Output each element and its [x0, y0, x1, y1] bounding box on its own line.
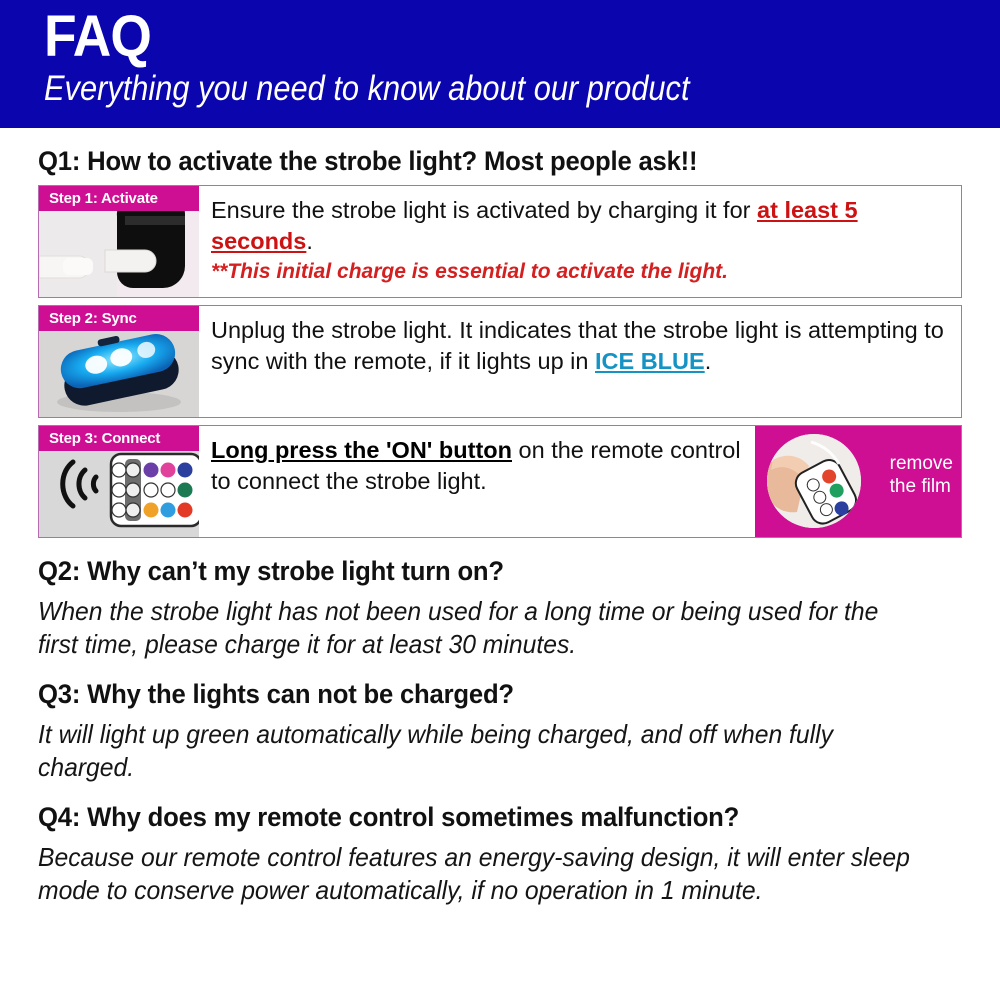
remove-film-line1: remove [890, 452, 953, 475]
remove-film-label: remove the film [890, 452, 953, 498]
q4-answer: Because our remote control features an e… [38, 841, 916, 907]
step-3-badge: Step 3: Connect [39, 426, 199, 451]
step-3-highlight: Long press the 'ON' button [211, 437, 512, 463]
step-1-badge: Step 1: Activate [39, 186, 199, 211]
remove-film-panel: remove the film [755, 426, 961, 537]
hand-holding-remote-photo [767, 434, 861, 528]
step-1-text: Ensure the strobe light is activated by … [199, 186, 961, 297]
hand-remote-art [767, 434, 861, 528]
step-3-image-cell: Step 3: Connect [39, 426, 199, 537]
step-3-text-column: Long press the 'ON' button on the remote… [211, 435, 755, 537]
page-title: FAQ [44, 6, 924, 68]
step-1-note: **This initial charge is essential to ac… [211, 258, 949, 285]
step-3-text: Long press the 'ON' button on the remote… [199, 426, 961, 537]
step-row: Step 2: Sync Unplug the strobe light. It… [38, 305, 962, 418]
step-row: Step 1: Activate Ensure the strobe light… [38, 185, 962, 298]
q4-heading: Q4: Why does my remote control sometimes… [38, 802, 916, 833]
step-1-text-before: Ensure the strobe light is activated by … [211, 197, 757, 223]
step-1-text-after: . [306, 228, 313, 254]
step-2-text: Unplug the strobe light. It indicates th… [199, 306, 961, 417]
step-1-image-cell: Step 1: Activate [39, 186, 199, 297]
step-2-highlight: ICE BLUE [595, 348, 705, 374]
q2-heading: Q2: Why can’t my strobe light turn on? [38, 556, 916, 587]
step-2-image-cell: Step 2: Sync [39, 306, 199, 417]
faq-body: Q1: How to activate the strobe light? Mo… [0, 146, 1000, 907]
q2-answer: When the strobe light has not been used … [38, 595, 916, 661]
q1-steps-table: Step 1: Activate Ensure the strobe light… [38, 185, 962, 538]
page-subtitle: Everything you need to know about our pr… [44, 68, 885, 110]
faq-infographic: FAQ Everything you need to know about ou… [0, 0, 1000, 1000]
q3-answer: It will light up green automatically whi… [38, 718, 916, 784]
remove-film-line2: the film [890, 475, 953, 498]
q1-heading: Q1: How to activate the strobe light? Mo… [38, 146, 916, 177]
step-2-text-after: . [705, 348, 712, 374]
step-2-badge: Step 2: Sync [39, 306, 199, 331]
step-2-text-before: Unplug the strobe light. It indicates th… [211, 317, 944, 374]
q3-heading: Q3: Why the lights can not be charged? [38, 679, 916, 710]
header-banner: FAQ Everything you need to know about ou… [0, 0, 1000, 128]
step-row: Step 3: Connect Long press the 'ON' butt… [38, 425, 962, 538]
